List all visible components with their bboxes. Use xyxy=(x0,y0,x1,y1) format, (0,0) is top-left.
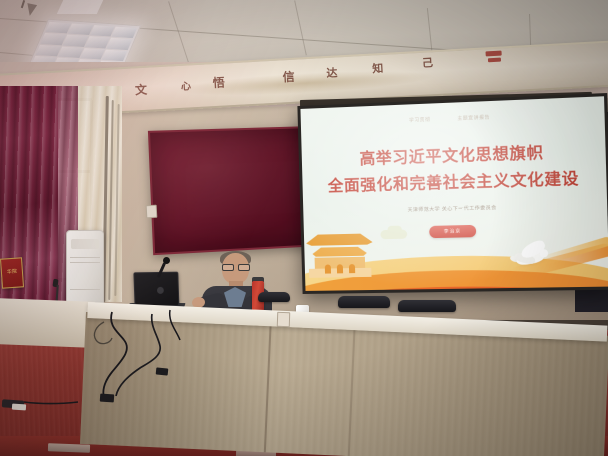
auspicious-cloud-icon xyxy=(380,230,407,240)
podium-outlet[interactable] xyxy=(277,312,291,327)
laptop-logo-icon xyxy=(157,287,164,294)
chair-back-3[interactable] xyxy=(258,292,290,302)
chair-back-1[interactable] xyxy=(338,296,390,308)
cable-connector-2 xyxy=(100,394,115,403)
tiananmen-gate-icon xyxy=(306,233,374,277)
slide-eyebrow-left: 学习贯彻 xyxy=(409,117,431,124)
air-conditioner xyxy=(66,230,104,306)
wall-light-switch[interactable] xyxy=(146,205,158,219)
lecture-hall-photo: 国 学 博 文 心 悟 信 达 知 己 华院 xyxy=(0,0,608,456)
laptop-screen[interactable] xyxy=(133,272,179,309)
podium-left-step xyxy=(0,298,95,348)
power-strip-plug xyxy=(12,404,26,411)
chair-back-2[interactable] xyxy=(398,300,456,312)
wall-plaque: 华院 xyxy=(0,257,24,288)
floor-cable-plate xyxy=(48,443,90,452)
eyeglasses-icon xyxy=(222,264,249,269)
slide-eyebrow: 学习贯彻 主题宣讲报告 xyxy=(301,110,605,128)
wall-plaque-text: 华院 xyxy=(7,270,17,276)
projection-screen[interactable]: 学习贯彻 主题宣讲报告 高举习近平文化思想旗帜 全面强化和完善社会主义文化建设 … xyxy=(297,93,608,294)
cable-connector xyxy=(156,367,169,375)
slide-title-line-2: 全面强化和完善社会主义文化建设 xyxy=(302,165,606,197)
slide-artwork xyxy=(303,205,608,291)
slide-eyebrow-right: 主题宣讲报告 xyxy=(457,114,490,121)
presentation-slide: 学习贯彻 主题宣讲报告 高举习近平文化思想旗帜 全面强化和完善社会主义文化建设 … xyxy=(300,96,608,291)
peace-dove-icon xyxy=(510,244,553,272)
